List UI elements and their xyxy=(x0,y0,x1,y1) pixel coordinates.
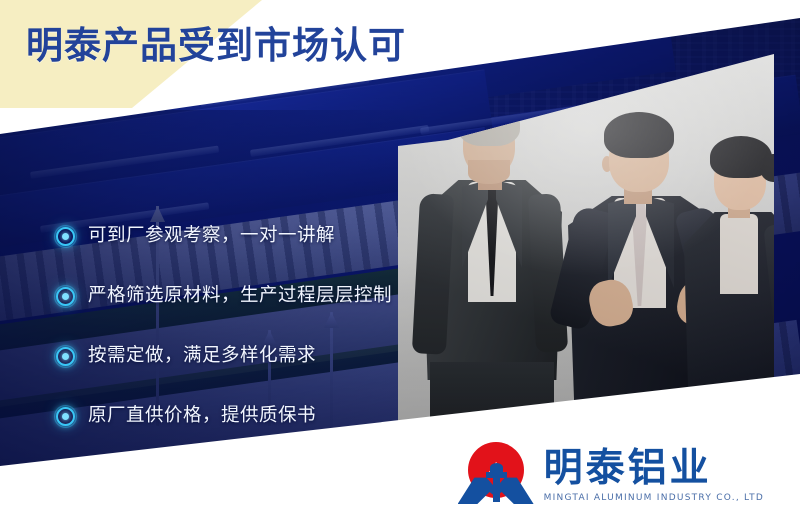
feature-item: 严格筛选原材料，生产过程层层控制 xyxy=(56,266,408,326)
promotional-banner: 明泰铝业 xyxy=(0,0,800,530)
logo-wordmark: 明泰铝业 MINGTAI ALUMINUM INDUSTRY CO., LTD xyxy=(544,448,764,504)
feature-label: 按需定做，满足多样化需求 xyxy=(88,344,316,368)
target-bullseye-icon xyxy=(56,407,75,426)
person-businessman-grey-hair xyxy=(416,102,566,430)
logo-chinese-name: 明泰铝业 xyxy=(544,448,712,490)
feature-item: 可到厂参观考察，一对一讲解 xyxy=(56,206,408,266)
company-logo: 明泰铝业 MINGTAI ALUMINUM INDUSTRY CO., LTD xyxy=(458,442,764,504)
feature-list: 可到厂参观考察，一对一讲解 严格筛选原材料，生产过程层层控制 按需定做，满足多样… xyxy=(56,206,408,446)
target-bullseye-icon xyxy=(56,287,75,306)
logo-stem xyxy=(493,472,500,502)
blouse xyxy=(720,214,758,294)
feature-item: 按需定做，满足多样化需求 xyxy=(56,326,408,386)
page-title: 明泰产品受到市场认可 xyxy=(26,24,406,68)
feature-label: 严格筛选原材料，生产过程层层控制 xyxy=(88,284,392,308)
mingtai-sun-mountain-icon xyxy=(458,442,534,504)
feature-label: 可到厂参观考察，一对一讲解 xyxy=(88,224,335,248)
target-bullseye-icon xyxy=(56,227,75,246)
hair xyxy=(604,112,674,158)
jaw xyxy=(468,160,510,184)
feature-label: 原厂直供价格，提供质保书 xyxy=(88,404,316,428)
target-bullseye-icon xyxy=(56,347,75,366)
logo-english-name: MINGTAI ALUMINUM INDUSTRY CO., LTD xyxy=(544,493,764,504)
